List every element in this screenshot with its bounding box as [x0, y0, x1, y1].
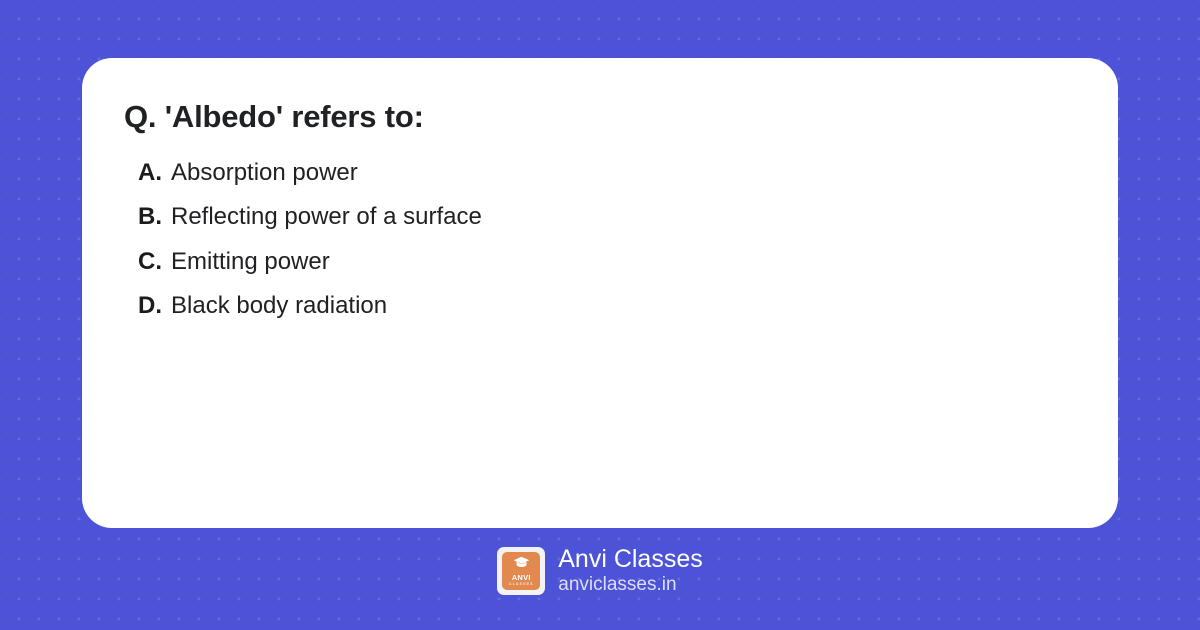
- option-c[interactable]: C. Emitting power: [138, 246, 1076, 278]
- brand-logo-word: ANVI: [512, 574, 531, 582]
- brand-logo-tile: ANVI CLASSES: [502, 552, 540, 590]
- option-b-label: Reflecting power of a surface: [171, 201, 482, 233]
- footer-branding: ANVI CLASSES Anvi Classes anviclasses.in: [0, 545, 1200, 597]
- question-card: Q. 'Albedo' refers to: A. Absorption pow…: [82, 58, 1118, 528]
- graduation-cap-icon: [513, 555, 530, 573]
- option-b[interactable]: B. Reflecting power of a surface: [138, 201, 1076, 233]
- option-d[interactable]: D. Black body radiation: [138, 290, 1076, 322]
- brand-logo-subword: CLASSES: [509, 583, 534, 587]
- option-c-letter: C.: [138, 246, 171, 278]
- option-b-letter: B.: [138, 201, 171, 233]
- brand-text-block: Anvi Classes anviclasses.in: [558, 545, 703, 597]
- option-a-label: Absorption power: [171, 157, 358, 189]
- answer-options-list: A. Absorption power B. Reflecting power …: [124, 157, 1076, 322]
- option-a[interactable]: A. Absorption power: [138, 157, 1076, 189]
- brand-name: Anvi Classes: [558, 545, 703, 574]
- question-title: Q. 'Albedo' refers to:: [124, 98, 1076, 135]
- option-a-letter: A.: [138, 157, 171, 189]
- brand-logo: ANVI CLASSES: [497, 547, 545, 595]
- option-d-letter: D.: [138, 290, 171, 322]
- option-c-label: Emitting power: [171, 246, 330, 278]
- brand-url[interactable]: anviclasses.in: [558, 574, 703, 597]
- option-d-label: Black body radiation: [171, 290, 387, 322]
